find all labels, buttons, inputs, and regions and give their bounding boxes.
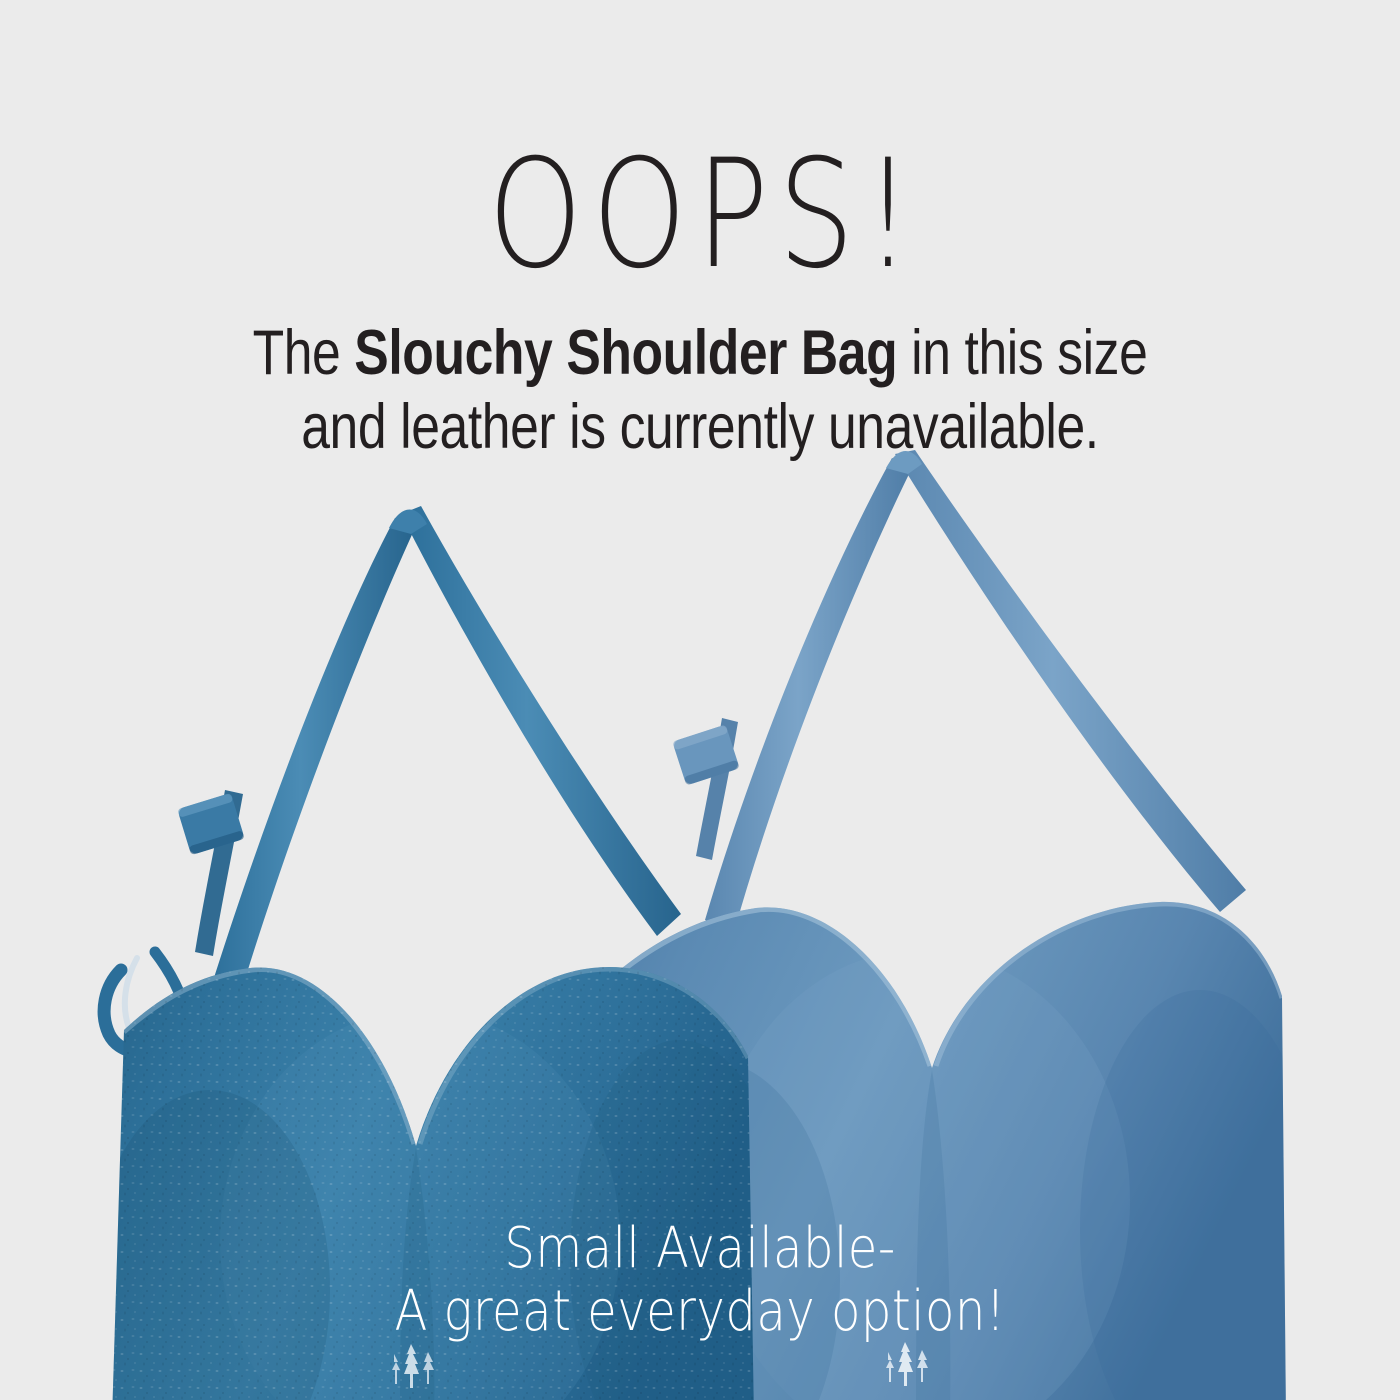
bag-right-strap — [660, 450, 1280, 970]
three-trees-logo-icon — [378, 1338, 444, 1396]
promo-graphic: OOPS! The Slouchy Shoulder Bag in this s… — [0, 0, 1400, 1400]
product-photo — [0, 0, 1400, 1400]
bag-left-body — [100, 960, 760, 1400]
three-trees-logo-icon — [872, 1336, 938, 1394]
